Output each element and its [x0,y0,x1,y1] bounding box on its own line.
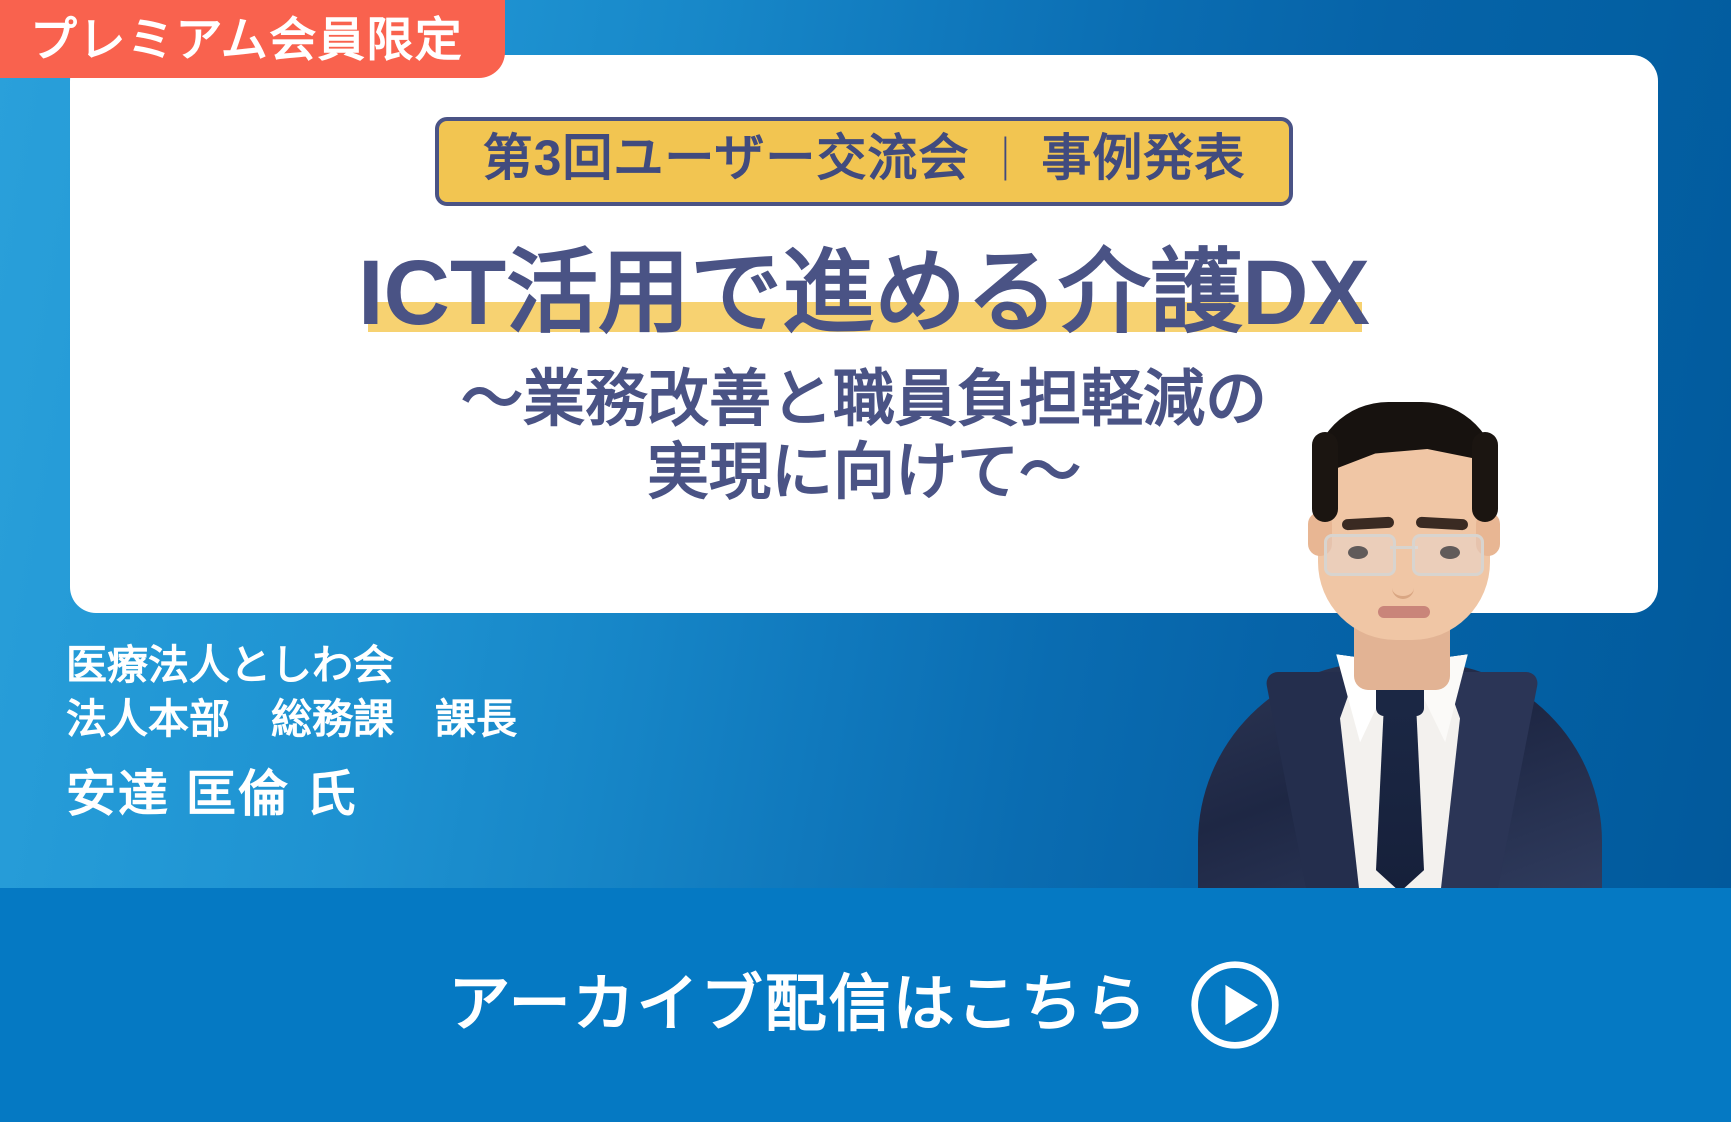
portrait-mouth [1378,606,1430,618]
event-badge: 第3回ユーザー交流会 ｜ 事例発表 [435,117,1294,206]
portrait-nose [1392,568,1414,599]
speaker-info: 医療法人としわ会 法人本部 総務課 課長 安達 匡倫 氏 [66,638,517,824]
premium-member-ribbon: プレミアム会員限定 [0,0,505,78]
portrait-lens-right [1412,534,1484,576]
play-circle-icon[interactable] [1187,957,1283,1053]
speaker-organization: 医療法人としわ会 [66,638,517,692]
page-subtitle-line-2: 実現に向けて〜 [461,436,1267,509]
page-subtitle: 〜業務改善と職員負担軽減の 実現に向けて〜 [461,363,1267,509]
archive-cta-bar[interactable]: アーカイブ配信はこちら [0,888,1731,1122]
page-subtitle-line-1: 〜業務改善と職員負担軽減の [461,363,1267,436]
portrait-hair-side-left [1312,432,1338,522]
premium-member-ribbon-label: プレミアム会員限定 [30,16,463,63]
main-title-wrap: ICT活用で進める介護DX [358,246,1370,342]
portrait-lens-left [1324,534,1396,576]
speaker-portrait [1190,372,1610,888]
event-badge-right-label: 事例発表 [1041,130,1245,188]
speaker-department: 法人本部 総務課 課長 [66,692,517,746]
glasses-icon [1324,534,1484,572]
archive-cta-label: アーカイブ配信はこちら [448,974,1148,1036]
event-badge-separator: ｜ [969,136,1041,187]
event-badge-left-label: 第3回ユーザー交流会 [483,130,970,188]
page-title: ICT活用で進める介護DX [358,246,1370,342]
portrait-tie [1376,710,1424,888]
speaker-name: 安達 匡倫 氏 [66,764,517,824]
portrait-hair-side-right [1472,432,1498,522]
promo-banner: 第3回ユーザー交流会 ｜ 事例発表 ICT活用で進める介護DX 〜業務改善と職員… [0,0,1731,1122]
